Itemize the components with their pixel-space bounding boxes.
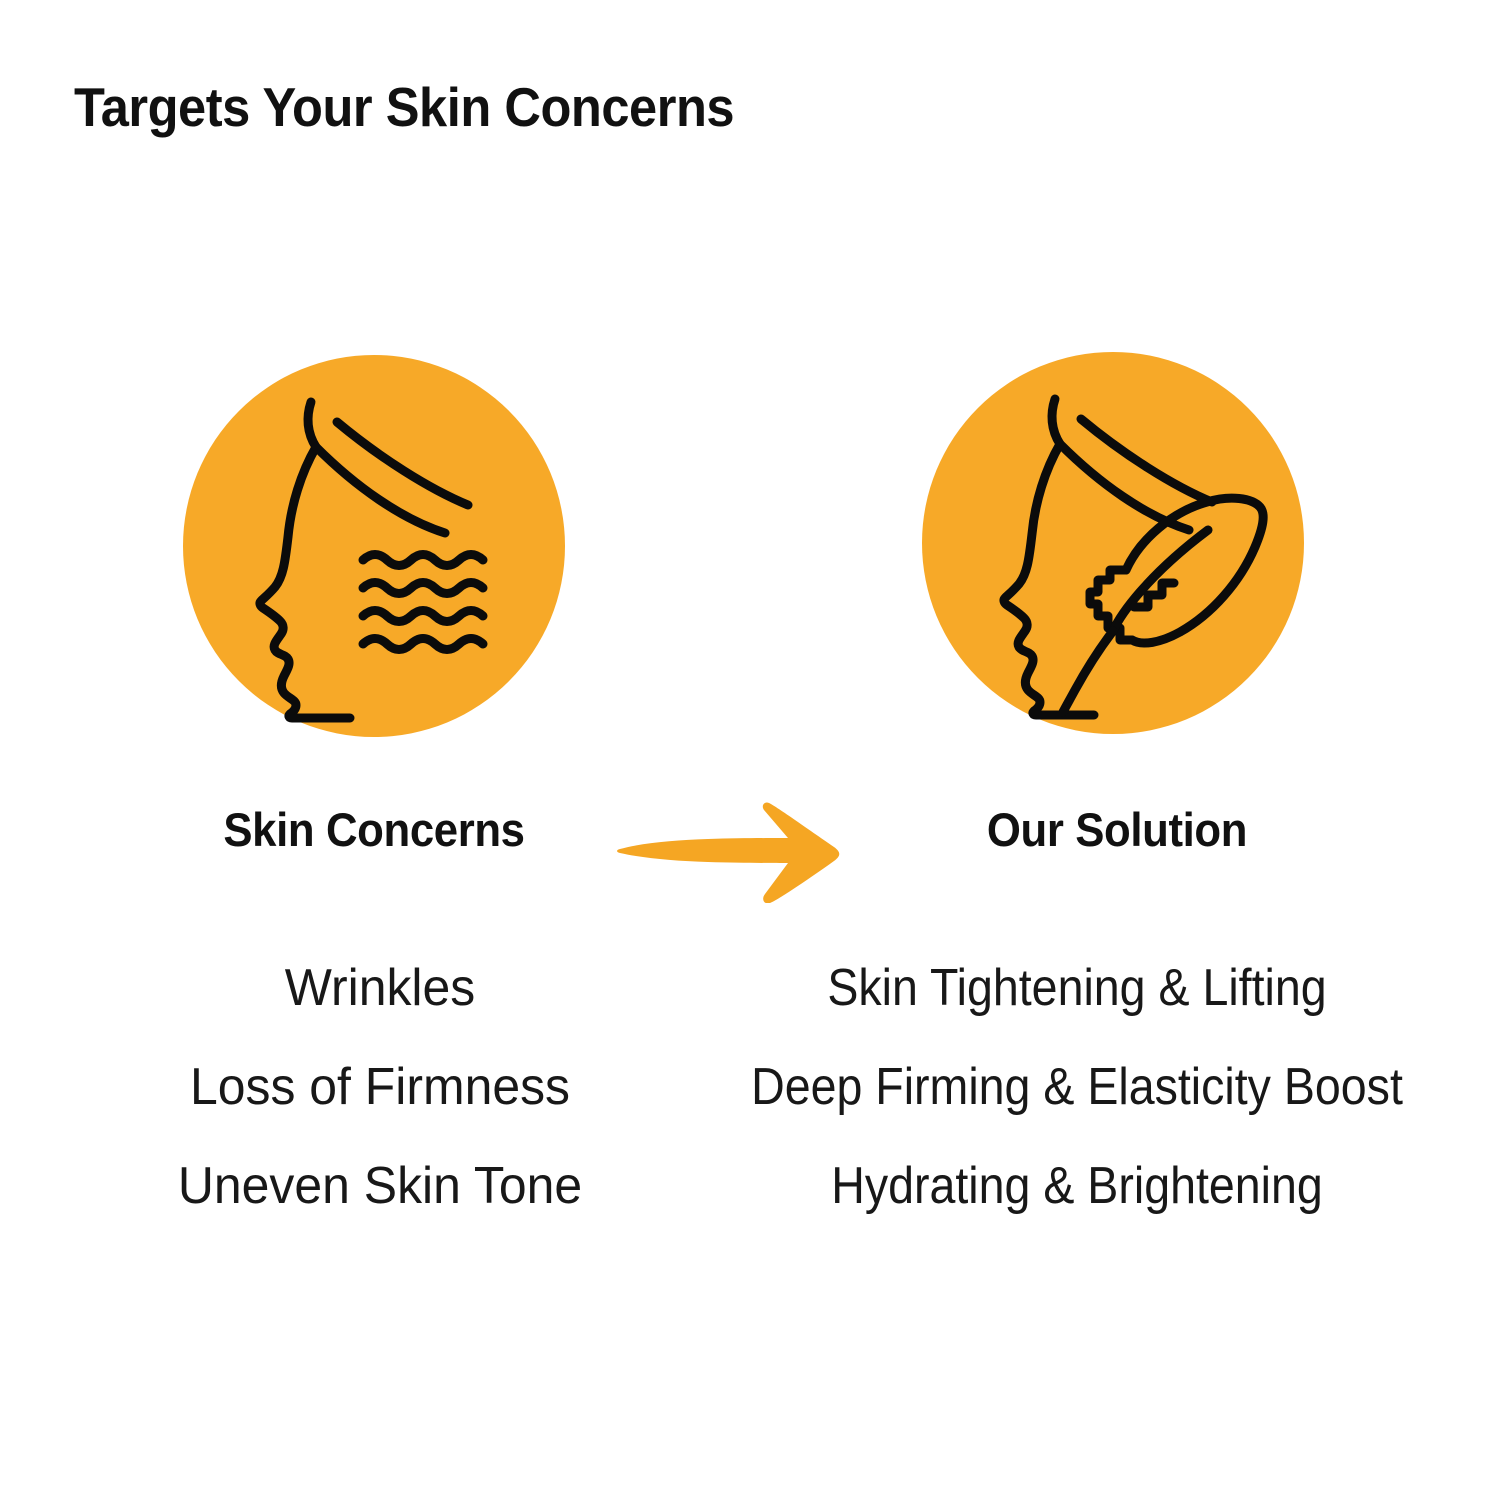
list-item: Skin Tightening & Lifting (715, 962, 1440, 1061)
list-item-label: Deep Firming & Elasticity Boost (715, 1061, 1440, 1113)
infographic-page: Targets Your Skin Concerns (0, 0, 1500, 1500)
page-title: Targets Your Skin Concerns (74, 80, 734, 135)
list-item: Hydrating & Brightening (715, 1160, 1440, 1259)
face-profile-with-feather-icon (922, 352, 1304, 734)
list-item: Loss of Firmness (73, 1061, 687, 1160)
list-item-label: Wrinkles (73, 962, 687, 1014)
list-item-label: Hydrating & Brightening (715, 1160, 1440, 1212)
our-solution-list: Skin Tightening & Lifting Deep Firming &… (672, 962, 1482, 1259)
list-item-label: Uneven Skin Tone (73, 1160, 687, 1212)
transition-arrow (612, 793, 872, 903)
list-item: Deep Firming & Elasticity Boost (715, 1061, 1440, 1160)
skin-concerns-icon-badge (183, 355, 565, 737)
list-item-label: Loss of Firmness (73, 1061, 687, 1113)
right-arrow-icon (612, 793, 872, 903)
list-item: Uneven Skin Tone (73, 1160, 687, 1259)
heading-our-solution: Our Solution (778, 806, 1457, 853)
face-profile-with-wrinkles-icon (183, 355, 565, 737)
list-item-label: Skin Tightening & Lifting (715, 962, 1440, 1014)
our-solution-icon-badge (922, 352, 1304, 734)
list-item: Wrinkles (73, 962, 687, 1061)
skin-concerns-list: Wrinkles Loss of Firmness Uneven Skin To… (60, 962, 700, 1259)
